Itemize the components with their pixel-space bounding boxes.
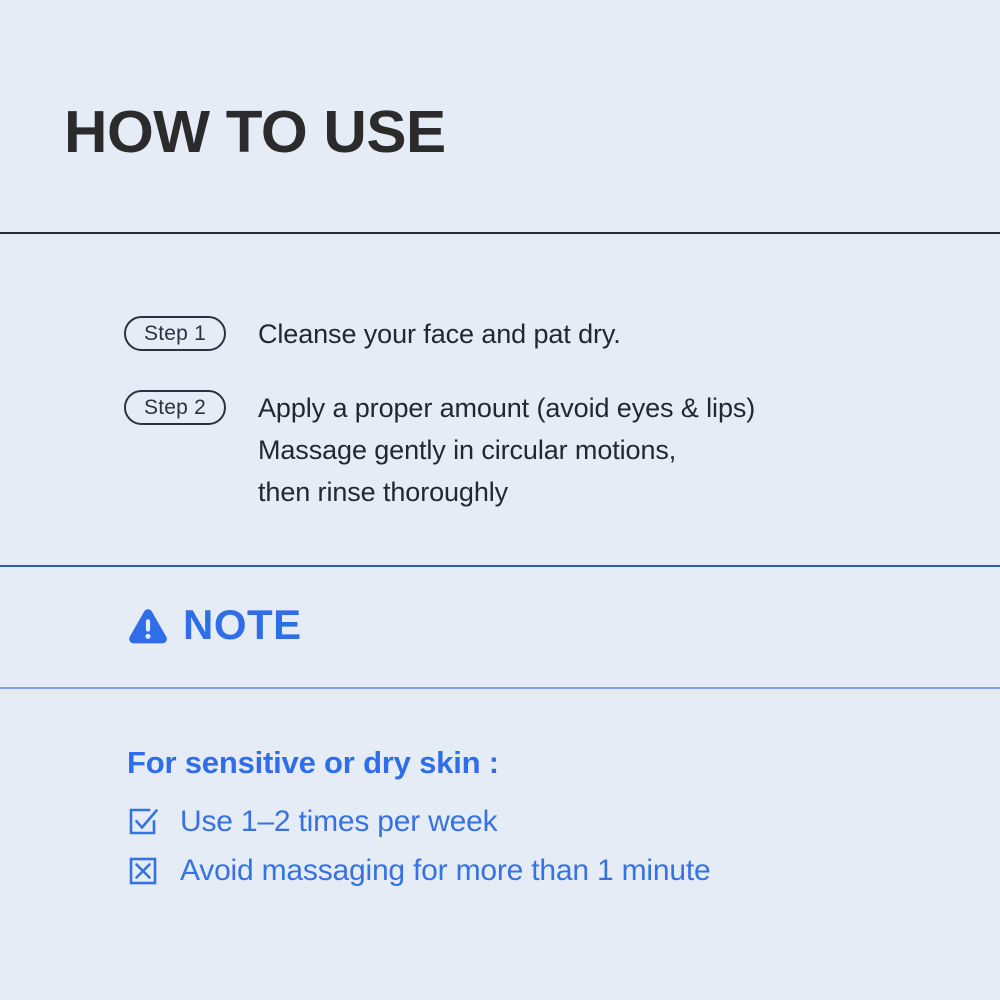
page-title: HOW TO USE	[64, 103, 446, 162]
note-header: NOTE	[127, 602, 302, 647]
checklist-heading: For sensitive or dry skin :	[127, 745, 499, 781]
step-description: Cleanse your face and pat dry.	[258, 313, 621, 355]
checkbox-checked-icon	[127, 806, 159, 838]
step-row: Step 2 Apply a proper amount (avoid eyes…	[124, 387, 755, 513]
step-description: Apply a proper amount (avoid eyes & lips…	[258, 387, 755, 513]
note-label: NOTE	[183, 604, 302, 646]
list-item-label: Avoid massaging for more than 1 minute	[180, 856, 710, 886]
checkbox-crossed-icon	[127, 855, 159, 887]
list-item-label: Use 1–2 times per week	[180, 807, 497, 837]
checklist-section: For sensitive or dry skin : Use 1–2 time…	[0, 689, 1000, 1000]
list-item: Avoid massaging for more than 1 minute	[127, 855, 710, 887]
list-item: Use 1–2 times per week	[127, 806, 497, 838]
step-row: Step 1 Cleanse your face and pat dry.	[124, 313, 621, 355]
step-badge: Step 1	[124, 316, 226, 351]
warning-triangle-icon	[127, 605, 169, 647]
title-section: HOW TO USE	[0, 0, 1000, 233]
note-section: NOTE	[0, 567, 1000, 687]
step-badge: Step 2	[124, 390, 226, 425]
steps-section: Step 1 Cleanse your face and pat dry. St…	[0, 234, 1000, 565]
